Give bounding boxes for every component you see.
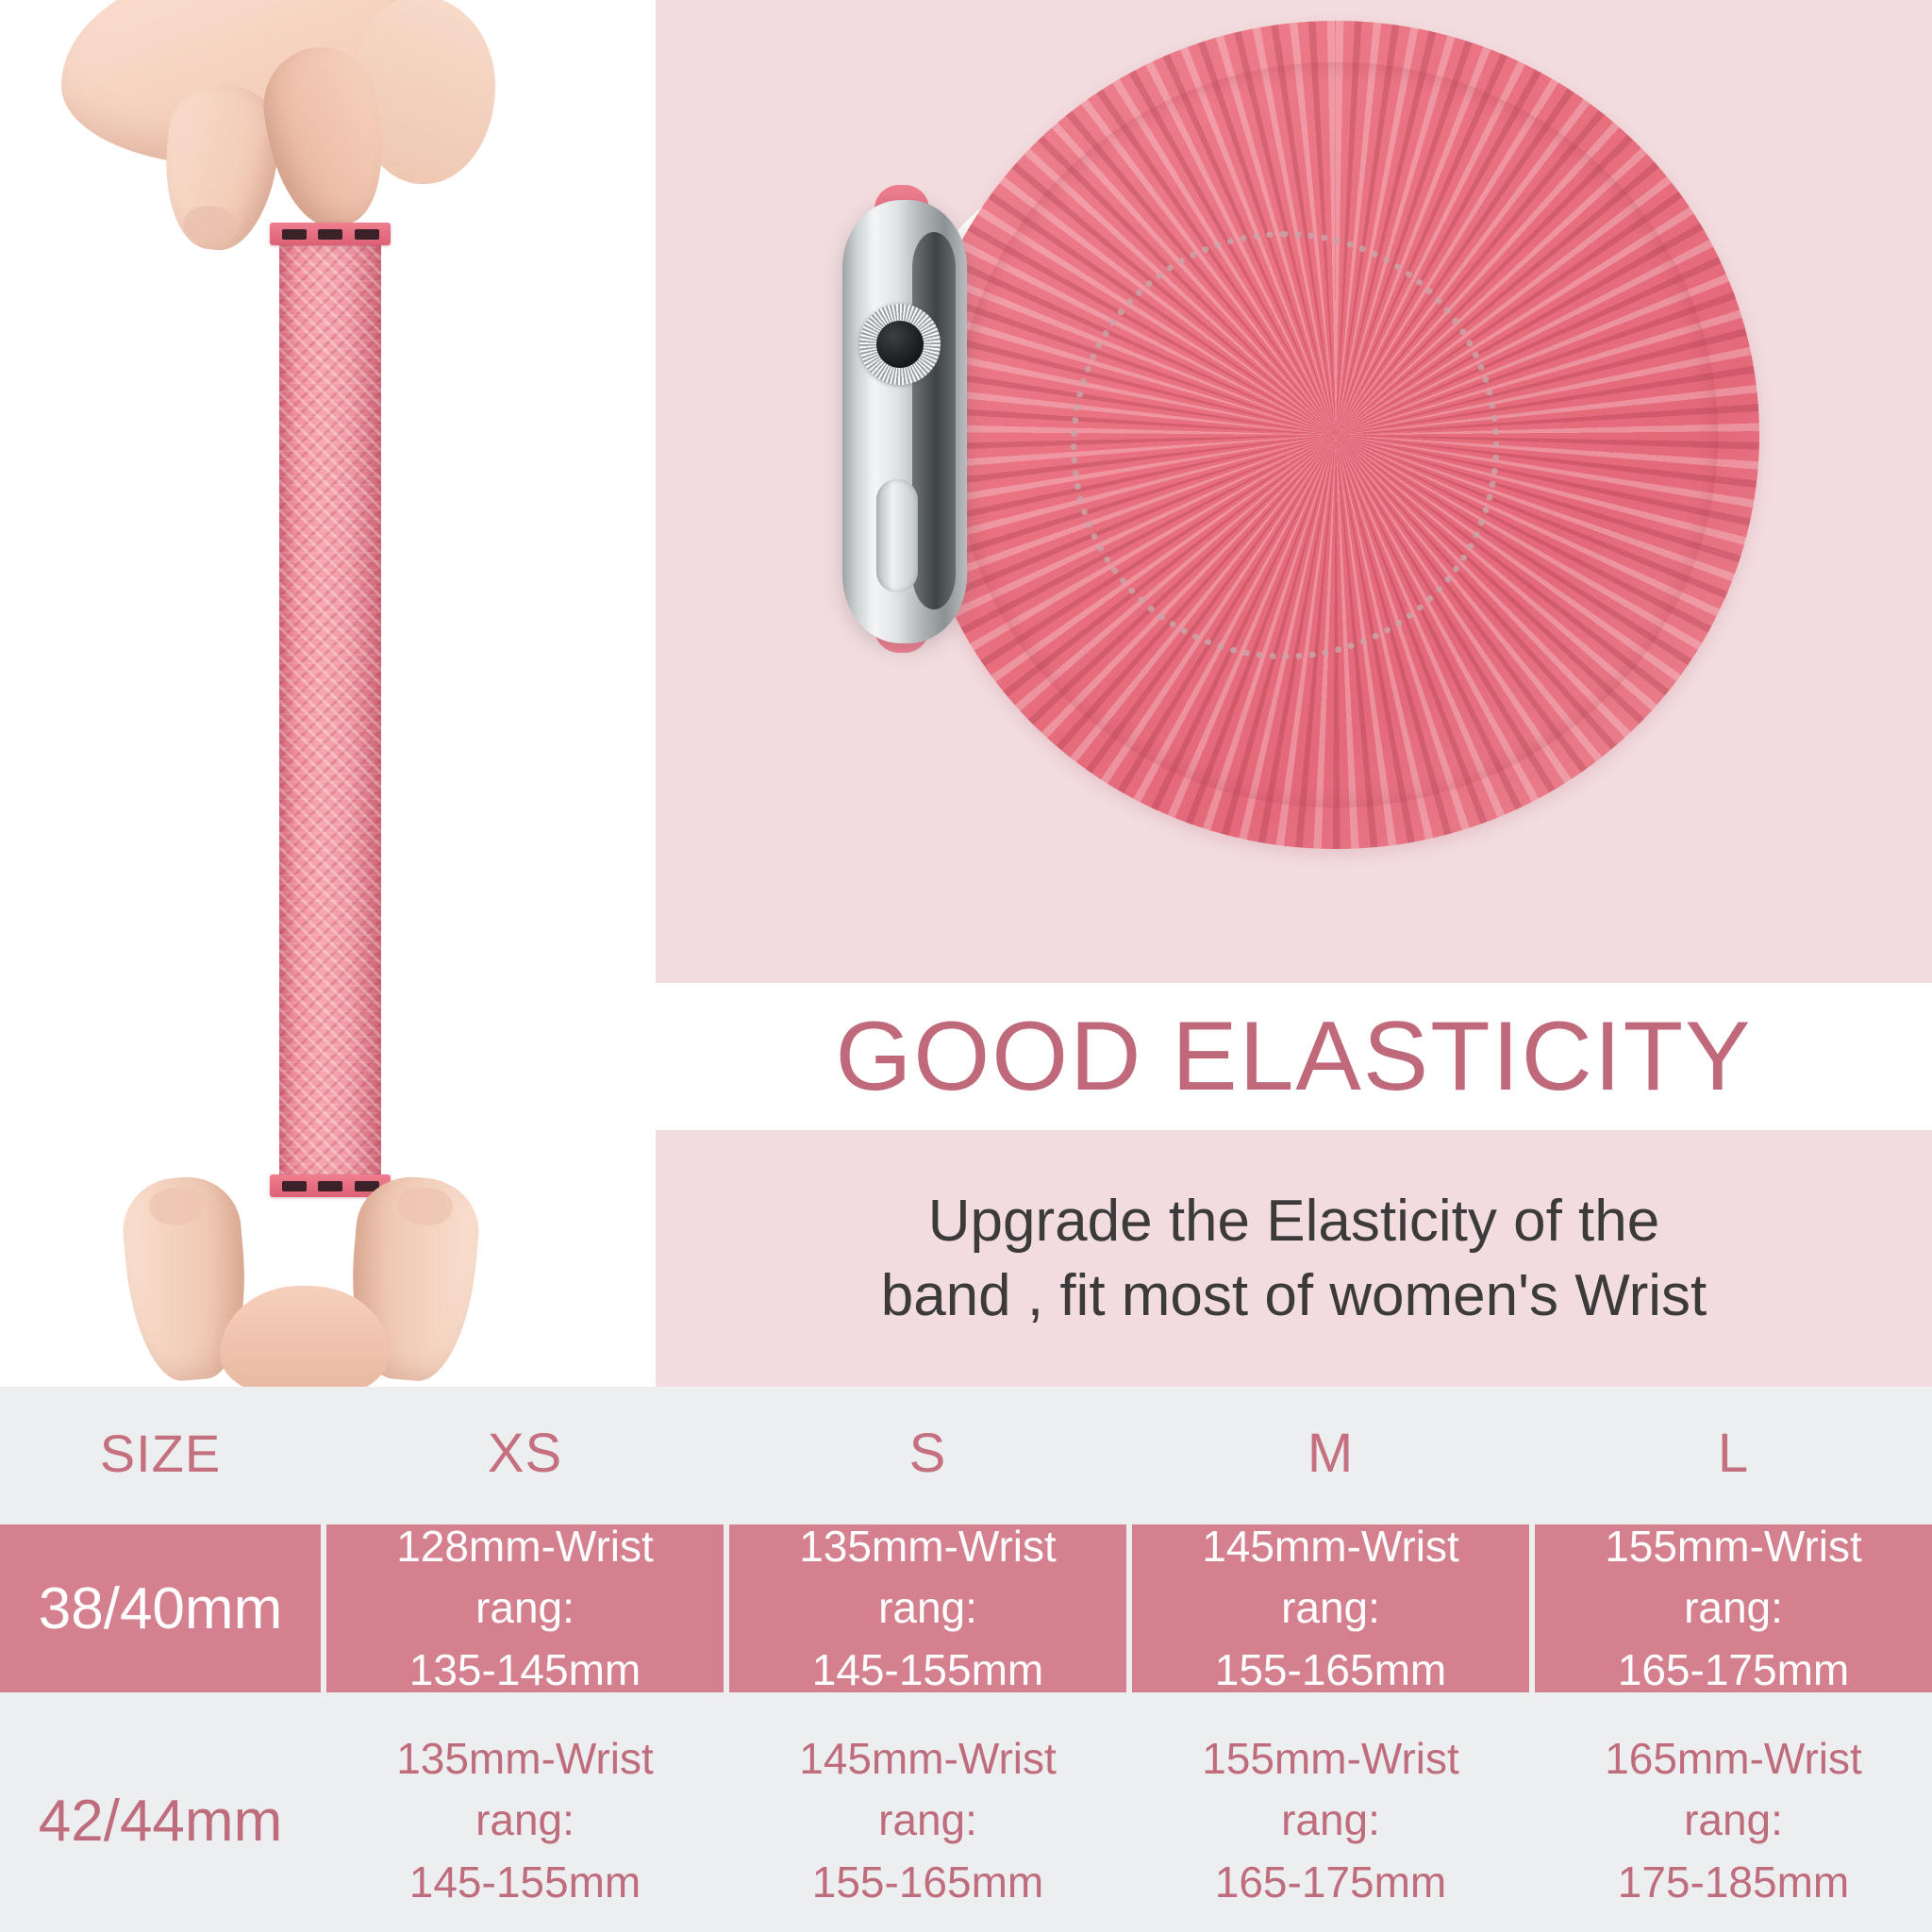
table-header-l: L [1535, 1387, 1932, 1519]
side-button [876, 479, 918, 592]
table-cell-38-40-l: 155mm-Wrist rang: 165-175mm [1535, 1524, 1932, 1692]
table-row-label-38-40: 38/40mm [0, 1524, 321, 1692]
band-lug-connector-top [270, 223, 391, 245]
lug-slot [318, 229, 342, 240]
left-product-photo [0, 0, 656, 1387]
lug-slot [355, 229, 379, 240]
hand-pinching-band-top [52, 0, 495, 245]
hand-pinching-band-bottom [99, 1177, 505, 1387]
table-cell-38-40-xs: 128mm-Wrist rang: 135-145mm [326, 1524, 724, 1692]
fingernail [182, 203, 241, 244]
table-cell-38-40-s: 135mm-Wrist rang: 145-155mm [729, 1524, 1126, 1692]
product-listing-image: GOOD ELASTICITY Upgrade the Elasticity o… [0, 0, 1932, 1932]
table-header-xs: XS [326, 1387, 724, 1519]
table-cell-38-40-m: 145mm-Wrist rang: 155-165mm [1132, 1524, 1529, 1692]
table-cell-42-44-m: 155mm-Wrist rang: 165-175mm [1132, 1698, 1529, 1932]
table-header-m: M [1132, 1387, 1529, 1519]
subtitle-line-1: Upgrade the Elasticity of the [928, 1184, 1659, 1258]
table-row-label-42-44: 42/44mm [0, 1698, 321, 1932]
table-header-s: S [729, 1387, 1126, 1519]
size-chart-table: SIZE XS S M L 38/40mm 128mm-Wrist rang: … [0, 1387, 1932, 1932]
fingernail [148, 1185, 206, 1227]
digital-crown [859, 304, 941, 385]
headline-band: GOOD ELASTICITY [656, 983, 1932, 1130]
fingernail [396, 1185, 454, 1227]
wrist-size-dotted-circle-icon [1071, 231, 1499, 659]
right-product-photo [656, 0, 1932, 983]
table-cell-42-44-l: 165mm-Wrist rang: 175-185mm [1535, 1698, 1932, 1932]
lug-slot [282, 229, 307, 240]
table-header-size: SIZE [0, 1387, 321, 1519]
page-title: GOOD ELASTICITY [836, 1008, 1753, 1106]
subtitle-line-2: band , fit most of women's Wrist [881, 1258, 1707, 1333]
braided-stretch-strap [279, 238, 381, 1187]
table-cell-42-44-s: 145mm-Wrist rang: 155-165mm [729, 1698, 1126, 1932]
table-cell-42-44-xs: 135mm-Wrist rang: 145-155mm [326, 1698, 724, 1932]
crown-center [876, 321, 924, 368]
top-photo-section: GOOD ELASTICITY Upgrade the Elasticity o… [0, 0, 1932, 1387]
subtitle-band: Upgrade the Elasticity of the band , fit… [656, 1130, 1932, 1387]
